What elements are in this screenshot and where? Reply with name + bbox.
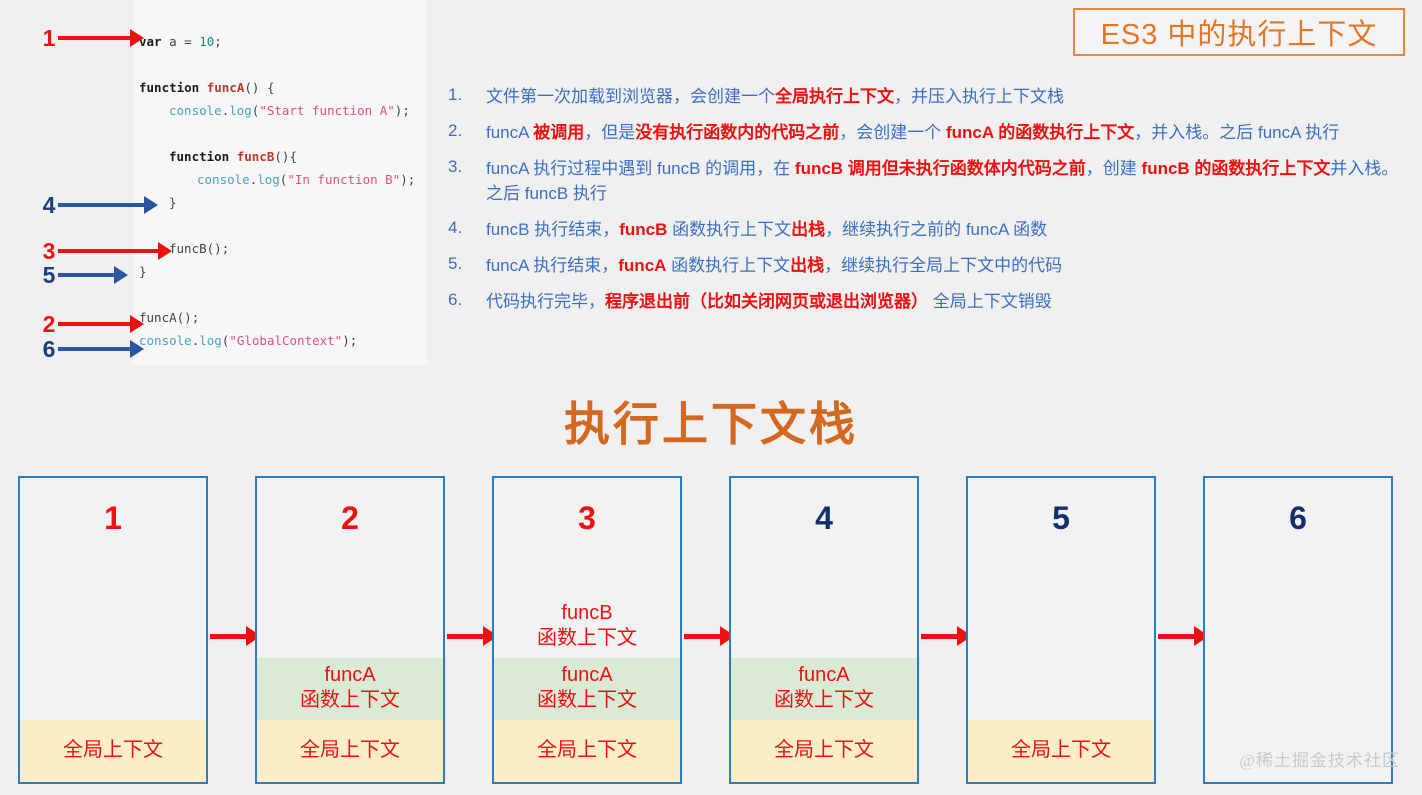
annotation-number-5: 5 bbox=[40, 264, 58, 286]
explanation-item-number: 1. bbox=[448, 84, 486, 109]
code-line-13: funcA(); bbox=[139, 306, 427, 329]
code-line-blank-1 bbox=[139, 53, 427, 76]
frame-label-line: 函数上下文 bbox=[494, 626, 680, 651]
stack-box-number: 6 bbox=[1205, 500, 1391, 537]
frame-label-line: 函数上下文 bbox=[494, 688, 680, 713]
explanation-item: 5.funcA 执行结束，funcA 函数执行上下文出栈，继续执行全局上下文中的… bbox=[448, 253, 1408, 278]
stack-flow-arrow bbox=[921, 626, 972, 646]
stack-flow-arrow bbox=[210, 626, 261, 646]
stack-frame-global-context: 全局上下文 bbox=[731, 720, 917, 782]
frame-label-line: 全局上下文 bbox=[731, 738, 917, 763]
arrow-shaft bbox=[58, 203, 144, 207]
annotation-arrow-1: 1 bbox=[40, 27, 144, 49]
stack-frame-funcA-context: funcA函数上下文 bbox=[731, 658, 917, 720]
slide-title-box: ES3 中的执行上下文 bbox=[1073, 8, 1405, 56]
annotation-arrow-4: 4 bbox=[40, 194, 158, 216]
code-line-1: var a = 10; bbox=[139, 30, 427, 53]
arrow-shaft bbox=[210, 634, 246, 639]
explanation-item-number: 2. bbox=[448, 120, 486, 145]
explanation-item: 4.funcB 执行结束，funcB 函数执行上下文出栈，继续执行之前的 fun… bbox=[448, 217, 1408, 242]
code-line-7: console.log("In function B"); bbox=[139, 168, 427, 191]
explanation-item-number: 3. bbox=[448, 156, 486, 206]
annotation-number-3: 3 bbox=[40, 240, 58, 262]
code-line-10: funcB(); bbox=[139, 237, 427, 260]
arrow-shaft bbox=[1158, 634, 1194, 639]
stack-frame-funcA-context: funcA函数上下文 bbox=[257, 658, 443, 720]
arrow-shaft bbox=[447, 634, 483, 639]
explanation-item-text: funcB 执行结束，funcB 函数执行上下文出栈，继续执行之前的 funcA… bbox=[486, 217, 1047, 242]
arrow-shaft bbox=[921, 634, 957, 639]
frame-label-line: funcB bbox=[494, 601, 680, 626]
code-line-4: console.log("Start function A"); bbox=[139, 99, 427, 122]
stack-box-number: 2 bbox=[257, 500, 443, 537]
arrow-shaft bbox=[58, 322, 130, 326]
execution-context-stack-diagram: 1全局上下文2funcA函数上下文全局上下文3funcB函数上下文funcA函数… bbox=[0, 476, 1422, 786]
stack-box-number: 3 bbox=[494, 500, 680, 537]
code-line-blank-3 bbox=[139, 214, 427, 237]
arrow-head-icon bbox=[130, 315, 144, 333]
code-line-3: function funcA() { bbox=[139, 76, 427, 99]
stack-box-number: 5 bbox=[968, 500, 1154, 537]
stack-frame-global-context: 全局上下文 bbox=[968, 720, 1154, 782]
stack-box-number: 1 bbox=[20, 500, 206, 537]
stack-frame-global-context: 全局上下文 bbox=[494, 720, 680, 782]
stack-box-4: 4funcA函数上下文全局上下文 bbox=[729, 476, 919, 784]
frame-label-line: funcA bbox=[257, 663, 443, 688]
annotation-arrow-3: 3 bbox=[40, 240, 172, 262]
frame-label-line: 函数上下文 bbox=[257, 688, 443, 713]
explanation-item: 2.funcA 被调用，但是没有执行函数内的代码之前，会创建一个 funcA 的… bbox=[448, 120, 1408, 145]
frame-label-line: funcA bbox=[731, 663, 917, 688]
frame-label-line: 全局上下文 bbox=[494, 738, 680, 763]
frame-label-line: 全局上下文 bbox=[257, 738, 443, 763]
explanation-item: 1.文件第一次加载到浏览器，会创建一个全局执行上下文，并压入执行上下文栈 bbox=[448, 84, 1408, 109]
explanation-item-text: 文件第一次加载到浏览器，会创建一个全局执行上下文，并压入执行上下文栈 bbox=[486, 84, 1064, 109]
frame-label-line: 函数上下文 bbox=[731, 688, 917, 713]
explanation-item-text: 代码执行完毕，程序退出前（比如关闭网页或退出浏览器） 全局上下文销毁 bbox=[486, 289, 1052, 314]
frame-label-line: 全局上下文 bbox=[20, 738, 206, 763]
annotation-number-4: 4 bbox=[40, 194, 58, 216]
annotation-number-6: 6 bbox=[40, 338, 58, 360]
slide-canvas: ES3 中的执行上下文 var a = 10; function funcA()… bbox=[0, 0, 1422, 795]
stack-flow-arrow bbox=[447, 626, 498, 646]
explanation-item-number: 5. bbox=[448, 253, 486, 278]
code-line-11: } bbox=[139, 260, 427, 283]
arrow-shaft bbox=[58, 36, 130, 40]
explanation-item-text: funcA 执行结束，funcA 函数执行上下文出栈，继续执行全局上下文中的代码 bbox=[486, 253, 1062, 278]
arrow-head-icon bbox=[130, 340, 144, 358]
arrow-shaft bbox=[58, 249, 158, 253]
stack-frame-global-context: 全局上下文 bbox=[257, 720, 443, 782]
code-panel: var a = 10; function funcA() { console.l… bbox=[133, 0, 427, 365]
explanation-item-text: funcA 执行过程中遇到 funcB 的调用，在 funcB 调用但未执行函数… bbox=[486, 156, 1408, 206]
annotation-number-2: 2 bbox=[40, 313, 58, 335]
code-line-blank-2 bbox=[139, 122, 427, 145]
arrow-shaft bbox=[58, 347, 130, 351]
arrow-head-icon bbox=[114, 266, 128, 284]
code-line-blank-4 bbox=[139, 283, 427, 306]
explanation-item-number: 4. bbox=[448, 217, 486, 242]
arrow-head-icon bbox=[130, 29, 144, 47]
explanation-item: 6.代码执行完毕，程序退出前（比如关闭网页或退出浏览器） 全局上下文销毁 bbox=[448, 289, 1408, 314]
explanation-item-number: 6. bbox=[448, 289, 486, 314]
annotation-number-1: 1 bbox=[40, 27, 58, 49]
stack-frame-global-context: 全局上下文 bbox=[20, 720, 206, 782]
arrow-head-icon bbox=[144, 196, 158, 214]
stack-section-heading: 执行上下文栈 bbox=[0, 388, 1422, 454]
stack-box-6: 6 bbox=[1203, 476, 1393, 784]
explanation-list: 1.文件第一次加载到浏览器，会创建一个全局执行上下文，并压入执行上下文栈2.fu… bbox=[448, 84, 1408, 325]
arrow-head-icon bbox=[158, 242, 172, 260]
annotation-arrow-6: 6 bbox=[40, 338, 144, 360]
annotation-arrow-5: 5 bbox=[40, 264, 128, 286]
explanation-item: 3.funcA 执行过程中遇到 funcB 的调用，在 funcB 调用但未执行… bbox=[448, 156, 1408, 206]
stack-box-3: 3funcB函数上下文funcA函数上下文全局上下文 bbox=[492, 476, 682, 784]
frame-label-line: funcA bbox=[494, 663, 680, 688]
arrow-shaft bbox=[684, 634, 720, 639]
code-line-14: console.log("GlobalContext"); bbox=[139, 329, 427, 352]
arrow-shaft bbox=[58, 273, 114, 277]
stack-box-number: 4 bbox=[731, 500, 917, 537]
frame-label-line: 全局上下文 bbox=[968, 738, 1154, 763]
stack-frame-funcA-context: funcA函数上下文 bbox=[494, 658, 680, 720]
stack-box-1: 1全局上下文 bbox=[18, 476, 208, 784]
stack-box-2: 2funcA函数上下文全局上下文 bbox=[255, 476, 445, 784]
stack-frame-funcB-context: funcB函数上下文 bbox=[494, 596, 680, 658]
stack-flow-arrow bbox=[1158, 626, 1209, 646]
code-line-6: function funcB(){ bbox=[139, 145, 427, 168]
explanation-item-text: funcA 被调用，但是没有执行函数内的代码之前，会创建一个 funcA 的函数… bbox=[486, 120, 1339, 145]
watermark: @稀土掘金技术社区 bbox=[1239, 746, 1400, 771]
code-line-8: } bbox=[139, 191, 427, 214]
stack-flow-arrow bbox=[684, 626, 735, 646]
stack-box-5: 5全局上下文 bbox=[966, 476, 1156, 784]
slide-title-text: ES3 中的执行上下文 bbox=[1101, 11, 1378, 53]
annotation-arrow-2: 2 bbox=[40, 313, 144, 335]
